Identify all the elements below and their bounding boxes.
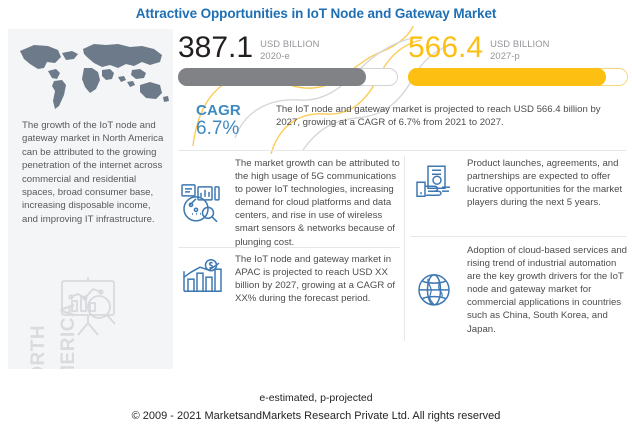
cagr-value: 6.7% bbox=[196, 118, 241, 139]
info-block-5g-growth: The market growth can be attributed to t… bbox=[180, 157, 400, 249]
kpi-left-unit-line1: USD BILLION bbox=[260, 38, 319, 50]
cagr-label: CAGR bbox=[196, 102, 241, 119]
info-block-partnerships: Product launches, agreements, and partne… bbox=[412, 157, 628, 209]
divider-vertical-center bbox=[404, 156, 405, 341]
region-description: The growth of the IoT node and gateway m… bbox=[22, 119, 168, 226]
info-block-apac-market: The IoT node and gateway market in APAC … bbox=[180, 253, 400, 305]
kpi-right-progress-track bbox=[408, 68, 628, 86]
globe-icon bbox=[412, 244, 458, 336]
kpi-left-value: 387.1 bbox=[178, 33, 253, 63]
kpi-2027-projected: 566.4 USD BILLION 2027-p bbox=[408, 33, 628, 86]
kpi-left-unit: USD BILLION 2020-e bbox=[260, 33, 319, 61]
region-sidebar-panel: The growth of the IoT node and gateway m… bbox=[8, 29, 173, 369]
document-chart-percent-search-icon bbox=[180, 157, 226, 249]
info-block-cloud-adoption: Adoption of cloud-based services and ris… bbox=[412, 244, 628, 336]
divider-horizontal-main bbox=[178, 150, 626, 151]
info-block-4-text: Adoption of cloud-based services and ris… bbox=[467, 244, 628, 336]
cagr-block: CAGR 6.7% bbox=[196, 102, 241, 139]
kpi-left-progress-fill bbox=[178, 68, 366, 86]
cagr-description: The IoT node and gateway market is proje… bbox=[276, 103, 626, 129]
kpi-right-progress-fill bbox=[408, 68, 606, 86]
info-block-1-text: The market growth can be attributed to t… bbox=[235, 157, 400, 249]
kpi-right-unit-line1: USD BILLION bbox=[490, 38, 549, 50]
divider-horizontal-right bbox=[410, 236, 626, 237]
kpi-right-unit-line2: 2027-p bbox=[490, 50, 549, 62]
world-map bbox=[14, 35, 170, 115]
kpi-right-value: 566.4 bbox=[408, 33, 483, 63]
kpi-left-unit-line2: 2020-e bbox=[260, 50, 319, 62]
handshake-agreement-icon bbox=[412, 157, 458, 209]
kpi-left-progress-track bbox=[178, 68, 398, 86]
bar-chart-dollar-icon bbox=[180, 253, 226, 305]
page-title: Attractive Opportunities in IoT Node and… bbox=[0, 6, 632, 21]
info-block-2-text: Product launches, agreements, and partne… bbox=[467, 157, 628, 209]
footer-copyright: © 2009 - 2021 MarketsandMarkets Research… bbox=[0, 410, 632, 422]
infographic-page: Attractive Opportunities in IoT Node and… bbox=[0, 0, 632, 432]
kpi-right-unit: USD BILLION 2027-p bbox=[490, 33, 549, 61]
region-label-north: NORTH bbox=[28, 245, 50, 369]
kpi-2020-estimated: 387.1 USD BILLION 2020-e bbox=[178, 33, 398, 86]
info-block-3-text: The IoT node and gateway market in APAC … bbox=[235, 253, 400, 305]
region-label-america: AMERICA bbox=[58, 245, 80, 369]
footer-note: e-estimated, p-projected bbox=[0, 392, 632, 404]
